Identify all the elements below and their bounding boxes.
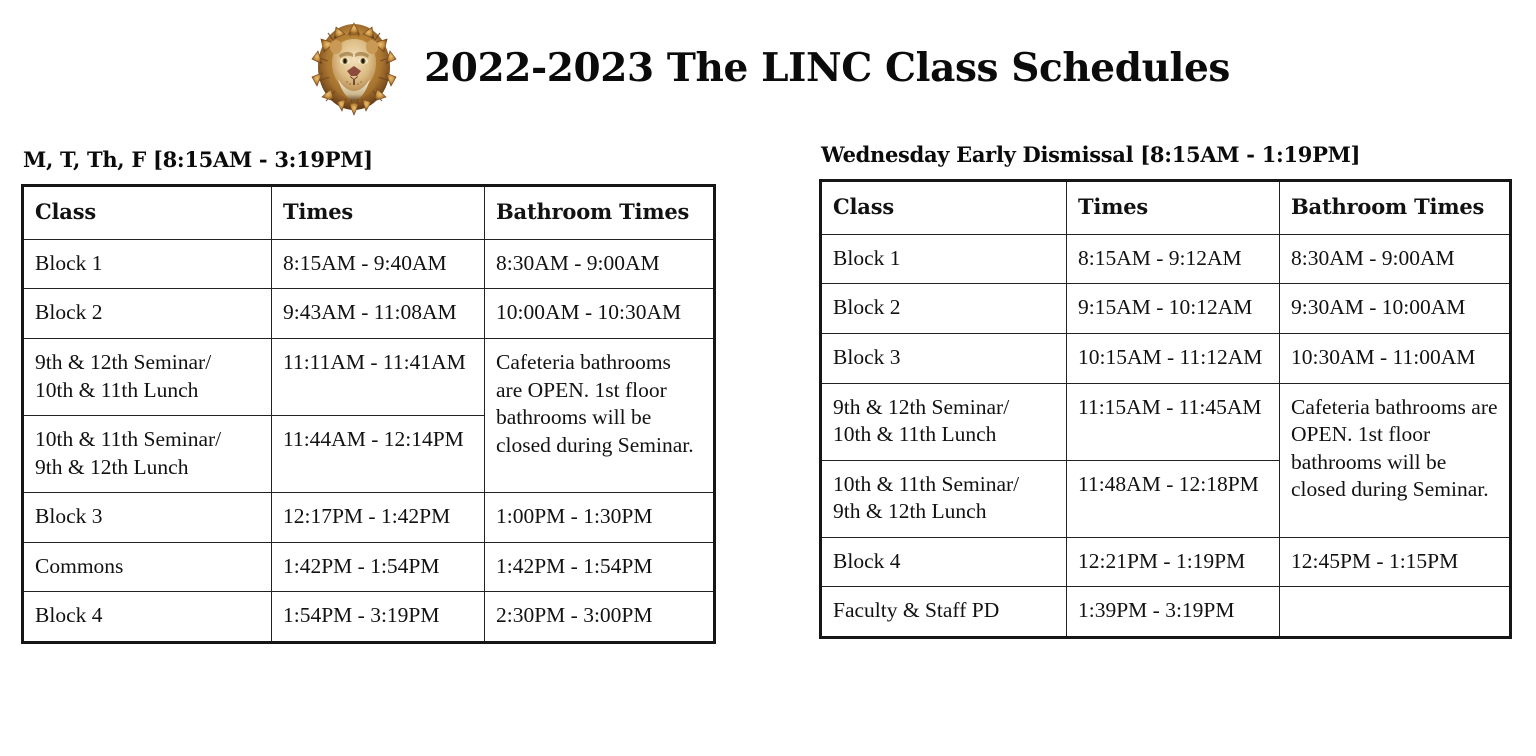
- cell-class: Block 1: [23, 239, 272, 289]
- table-row: Block 2 9:15AM - 10:12AM 9:30AM - 10:00A…: [821, 284, 1511, 334]
- schedule-wednesday-table: Class Times Bathroom Times Block 1 8:15A…: [819, 179, 1512, 639]
- cell-class: Faculty & Staff PD: [821, 587, 1067, 638]
- cell-times: 8:15AM - 9:40AM: [272, 239, 485, 289]
- cell-times: 11:44AM - 12:14PM: [272, 416, 485, 493]
- cell-class: 10th & 11th Seminar/ 9th & 12th Lunch: [821, 460, 1067, 537]
- table-header-row: Class Times Bathroom Times: [23, 186, 715, 240]
- column-header-times: Times: [272, 186, 485, 240]
- schedule-page: 2022-2023 The LINC Class Schedules M, T,…: [0, 0, 1536, 756]
- cell-class: Block 2: [821, 284, 1067, 334]
- cell-times: 12:17PM - 1:42PM: [272, 493, 485, 543]
- schedule-regular: M, T, Th, F [8:15AM - 3:19PM] Class Time…: [21, 148, 713, 644]
- page-header: 2022-2023 The LINC Class Schedules: [0, 14, 1536, 122]
- column-header-times: Times: [1067, 181, 1280, 235]
- cell-bathroom: 9:30AM - 10:00AM: [1280, 284, 1511, 334]
- table-row: Block 3 10:15AM - 11:12AM 10:30AM - 11:0…: [821, 334, 1511, 384]
- cell-bathroom-note: Cafeteria bathrooms are OPEN. 1st floor …: [485, 339, 715, 493]
- cell-class: Block 2: [23, 289, 272, 339]
- table-row: Block 4 1:54PM - 3:19PM 2:30PM - 3:00PM: [23, 592, 715, 643]
- column-header-class: Class: [23, 186, 272, 240]
- schedule-regular-table: Class Times Bathroom Times Block 1 8:15A…: [21, 184, 716, 644]
- cell-class: Block 3: [821, 334, 1067, 384]
- lion-head-logo-icon: [306, 19, 402, 117]
- cell-times: 9:43AM - 11:08AM: [272, 289, 485, 339]
- cell-bathroom: 10:00AM - 10:30AM: [485, 289, 715, 339]
- cell-times: 8:15AM - 9:12AM: [1067, 234, 1280, 284]
- cell-times: 11:48AM - 12:18PM: [1067, 460, 1280, 537]
- cell-class: Block 1: [821, 234, 1067, 284]
- cell-bathroom: 12:45PM - 1:15PM: [1280, 537, 1511, 587]
- schedule-wednesday: Wednesday Early Dismissal [8:15AM - 1:19…: [819, 143, 1509, 639]
- table-row: Block 2 9:43AM - 11:08AM 10:00AM - 10:30…: [23, 289, 715, 339]
- cell-class: 9th & 12th Seminar/ 10th & 11th Lunch: [821, 383, 1067, 460]
- cell-times: 11:11AM - 11:41AM: [272, 339, 485, 416]
- cell-class: Block 4: [821, 537, 1067, 587]
- cell-bathroom: 1:42PM - 1:54PM: [485, 542, 715, 592]
- column-header-bathroom-times: Bathroom Times: [485, 186, 715, 240]
- cell-bathroom: 8:30AM - 9:00AM: [1280, 234, 1511, 284]
- schedule-regular-title: M, T, Th, F [8:15AM - 3:19PM]: [23, 148, 713, 171]
- table-row: Block 1 8:15AM - 9:40AM 8:30AM - 9:00AM: [23, 239, 715, 289]
- schedule-wednesday-title: Wednesday Early Dismissal [8:15AM - 1:19…: [821, 143, 1509, 166]
- cell-class: Block 4: [23, 592, 272, 643]
- cell-bathroom: 1:00PM - 1:30PM: [485, 493, 715, 543]
- cell-bathroom: 10:30AM - 11:00AM: [1280, 334, 1511, 384]
- table-row: 9th & 12th Seminar/ 10th & 11th Lunch 11…: [821, 383, 1511, 460]
- cell-times: 12:21PM - 1:19PM: [1067, 537, 1280, 587]
- cell-bathroom-shaded: [1280, 587, 1511, 638]
- table-row: Commons 1:42PM - 1:54PM 1:42PM - 1:54PM: [23, 542, 715, 592]
- cell-times: 10:15AM - 11:12AM: [1067, 334, 1280, 384]
- cell-bathroom: 2:30PM - 3:00PM: [485, 592, 715, 643]
- table-row: Block 4 12:21PM - 1:19PM 12:45PM - 1:15P…: [821, 537, 1511, 587]
- table-row: 9th & 12th Seminar/ 10th & 11th Lunch 11…: [23, 339, 715, 416]
- column-header-class: Class: [821, 181, 1067, 235]
- cell-times: 1:42PM - 1:54PM: [272, 542, 485, 592]
- cell-class: 9th & 12th Seminar/ 10th & 11th Lunch: [23, 339, 272, 416]
- page-title: 2022-2023 The LINC Class Schedules: [424, 49, 1230, 88]
- table-row: Block 1 8:15AM - 9:12AM 8:30AM - 9:00AM: [821, 234, 1511, 284]
- cell-class: Block 3: [23, 493, 272, 543]
- cell-bathroom-note: Cafeteria bathrooms are OPEN. 1st floor …: [1280, 383, 1511, 537]
- table-row: Block 3 12:17PM - 1:42PM 1:00PM - 1:30PM: [23, 493, 715, 543]
- cell-bathroom: 8:30AM - 9:00AM: [485, 239, 715, 289]
- table-row: Faculty & Staff PD 1:39PM - 3:19PM: [821, 587, 1511, 638]
- table-header-row: Class Times Bathroom Times: [821, 181, 1511, 235]
- cell-times: 1:54PM - 3:19PM: [272, 592, 485, 643]
- cell-times: 1:39PM - 3:19PM: [1067, 587, 1280, 638]
- cell-times: 11:15AM - 11:45AM: [1067, 383, 1280, 460]
- column-header-bathroom-times: Bathroom Times: [1280, 181, 1511, 235]
- cell-class: Commons: [23, 542, 272, 592]
- cell-times: 9:15AM - 10:12AM: [1067, 284, 1280, 334]
- cell-class: 10th & 11th Seminar/ 9th & 12th Lunch: [23, 416, 272, 493]
